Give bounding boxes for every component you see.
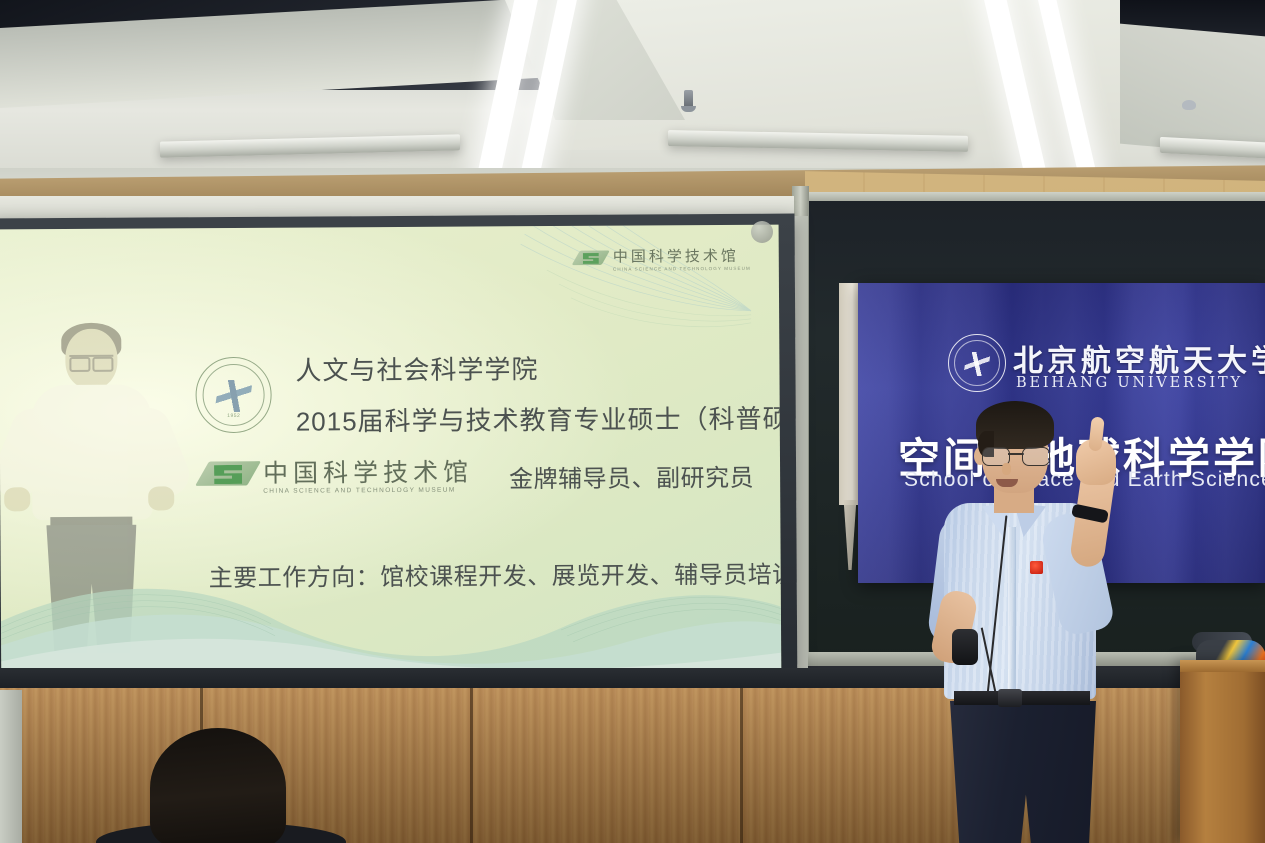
lecture-hall-scene: 北京航空航天大学 BEIHANG UNIVERSITY 空间与地球科学学院 Sc… — [0, 0, 1265, 843]
beihang-emblem-glyph — [963, 352, 990, 376]
presenter-hair — [976, 401, 1054, 449]
slide-museum-logo-large: 中国科学技术馆 CHINA SCIENCE AND TECHNOLOGY MUS… — [202, 459, 473, 497]
slide-line-college: 人文与社会科学学院 — [295, 347, 781, 387]
shirt-placket — [1008, 527, 1016, 697]
wall-left-edge — [0, 690, 22, 843]
presentation-clicker — [952, 629, 978, 665]
banner-university-name-cn: 北京航空航天大学 — [1013, 336, 1265, 380]
belt — [954, 691, 1090, 705]
belt-buckle — [998, 689, 1022, 707]
slide-museum-logo: 中国科学技术馆 CHINA SCIENCE AND TECHNOLOGY MUS… — [576, 249, 751, 273]
slide-row-employer: 中国科学技术馆 CHINA SCIENCE AND TECHNOLOGY MUS… — [202, 457, 754, 496]
beihang-emblem-glyph — [214, 380, 252, 412]
seal-year: 1952 — [227, 413, 240, 419]
attendee-head — [150, 728, 286, 843]
presenter — [930, 395, 1140, 843]
slide-row-affiliation: 1952 人文与社会科学学院 2015届科学与技术教育专业硕士（科普硕士） — [195, 347, 781, 439]
projection-screen-frame: 中国科学技术馆 CHINA SCIENCE AND TECHNOLOGY MUS… — [0, 214, 797, 707]
fire-sprinkler-icon — [684, 90, 693, 110]
ceiling-panel-right — [1120, 24, 1265, 157]
smoke-detector-icon — [1182, 100, 1196, 110]
wood-panel-seam — [740, 688, 743, 843]
slide-fan-decoration — [450, 225, 751, 343]
presenter-trousers — [950, 701, 1096, 843]
museum-logo-en: CHINA SCIENCE AND TECHNOLOGY MUSEUM — [263, 487, 473, 495]
museum-logo-cn: 中国科学技术馆 — [263, 459, 473, 485]
slide-line-degree: 2015届科学与技术教育专业硕士（科普硕士） — [296, 398, 782, 438]
museum-cube-icon — [202, 460, 254, 496]
wood-panel-seam — [470, 688, 473, 843]
banner-university-name-en: BEIHANG UNIVERSITY — [1016, 375, 1243, 391]
beihang-seal-icon — [948, 334, 1006, 392]
museum-cube-icon — [576, 250, 606, 272]
party-emblem-pin-icon — [1030, 561, 1043, 574]
projection-screen-surface: 中国科学技术馆 CHINA SCIENCE AND TECHNOLOGY MUS… — [0, 225, 781, 686]
slide-job-title: 金牌辅导员、副研究员 — [509, 457, 754, 493]
slide-museum-logo-cn: 中国科学技术馆 — [613, 249, 751, 265]
screen-roller-knob-icon — [751, 221, 773, 243]
beihang-seal-icon: 1952 — [195, 357, 271, 433]
slide-museum-logo-en: CHINA SCIENCE AND TECHNOLOGY MUSEUM — [613, 267, 751, 272]
chalkboard-frame-top — [806, 192, 1265, 201]
eyeglasses-icon — [982, 447, 1050, 464]
podium-top-surface — [1180, 660, 1265, 672]
wooden-podium — [1180, 660, 1265, 843]
presenter-nose — [1002, 463, 1011, 475]
